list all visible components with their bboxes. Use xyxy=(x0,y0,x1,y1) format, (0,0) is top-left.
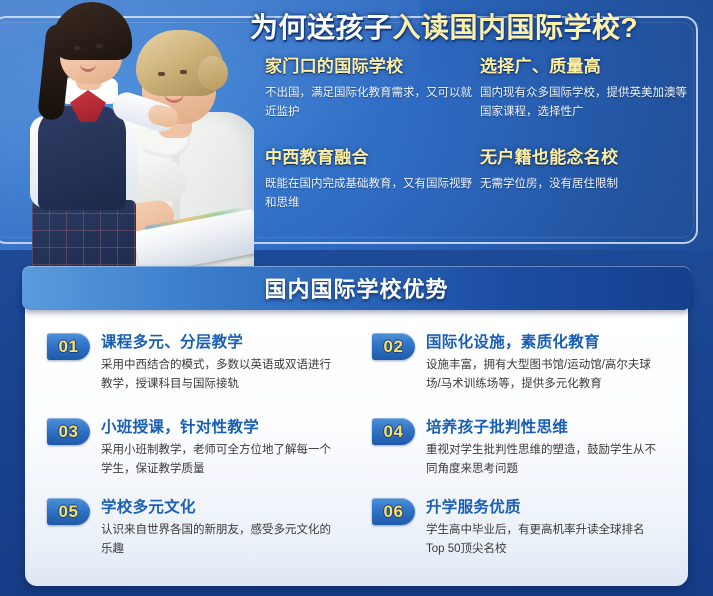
hero-block-1-heading: 家门口的国际学校 xyxy=(265,52,475,77)
advantage-body-05: 认识来自世界各国的新朋友，感受多元文化的乐趣 xyxy=(101,521,333,558)
advantage-text-06: 升学服务优质 学生高中毕业后，有更高机率升读全球排名Top 50顶尖名校 xyxy=(426,495,658,585)
student-skirt xyxy=(32,200,136,272)
advantage-heading-01: 课程多元、分层教学 xyxy=(101,330,333,352)
advantage-text-01: 课程多元、分层教学 采用中西结合的模式，多数以英语或双语进行教学，授课科目与国际… xyxy=(101,330,333,415)
advantage-badge-05: 05 xyxy=(47,498,90,525)
advantage-heading-05: 学校多元文化 xyxy=(101,495,333,517)
advantage-badge-04: 04 xyxy=(372,418,415,445)
student-eye-left xyxy=(74,46,81,50)
page-title-yellow: 入读国内国际学校? xyxy=(393,12,639,43)
hero-block-3-body: 既能在国内完成基础教育，又有国际视野和思维 xyxy=(265,175,475,212)
advantages-grid: 01 课程多元、分层教学 采用中西结合的模式，多数以英语或双语进行教学，授课科目… xyxy=(25,330,688,586)
teacher-eye-left xyxy=(158,72,165,76)
advantage-heading-03: 小班授课，针对性教学 xyxy=(101,415,333,437)
page-title-white: 为何送孩子 xyxy=(250,12,393,43)
advantage-body-04: 重视对学生批判性思维的塑造，鼓励学生从不同角度来思考问题 xyxy=(426,441,658,478)
advantage-body-01: 采用中西结合的模式，多数以英语或双语进行教学，授课科目与国际接轨 xyxy=(101,356,333,393)
advantage-item-03[interactable]: 03 小班授课，针对性教学 采用小班制教学，老师可全方位地了解每一个学生，保证教… xyxy=(25,415,350,495)
advantage-badge-06: 06 xyxy=(372,498,415,525)
advantage-badge-01: 01 xyxy=(47,333,90,360)
advantage-body-03: 采用小班制教学，老师可全方位地了解每一个学生，保证教学质量 xyxy=(101,441,333,478)
hero-block-3: 中西教育融合 既能在国内完成基础教育，又有国际视野和思维 xyxy=(265,143,475,212)
student-hair xyxy=(52,2,132,60)
page-title: 为何送孩子入读国内国际学校? xyxy=(250,6,710,46)
hero-block-4-heading: 无户籍也能念名校 xyxy=(480,143,690,168)
advantage-item-02[interactable]: 02 国际化设施，素质化教育 设施丰富，拥有大型图书馆/运动馆/高尔夫球场/马术… xyxy=(350,330,688,415)
hero-block-4-body: 无需学位房，没有居住限制 xyxy=(480,175,690,194)
advantage-item-04[interactable]: 04 培养孩子批判性思维 重视对学生批判性思维的塑造，鼓励学生从不同角度来思考问… xyxy=(350,415,688,495)
advantage-item-01[interactable]: 01 课程多元、分层教学 采用中西结合的模式，多数以英语或双语进行教学，授课科目… xyxy=(25,330,350,415)
hero-block-3-heading: 中西教育融合 xyxy=(265,143,475,168)
advantage-body-06: 学生高中毕业后，有更高机率升读全球排名Top 50顶尖名校 xyxy=(426,521,658,558)
teacher-eye-right xyxy=(180,70,187,74)
advantage-text-05: 学校多元文化 认识来自世界各国的新朋友，感受多元文化的乐趣 xyxy=(101,495,333,585)
advantage-text-02: 国际化设施，素质化教育 设施丰富，拥有大型图书馆/运动馆/高尔夫球场/马术训练场… xyxy=(426,330,658,415)
hero-block-2-heading: 选择广、质量高 xyxy=(480,52,690,77)
advantage-badge-02: 02 xyxy=(372,333,415,360)
hero-block-row-2: 中西教育融合 既能在国内完成基础教育，又有国际视野和思维 无户籍也能念名校 无需… xyxy=(265,143,705,212)
hero-blocks: 家门口的国际学校 不出国，满足国际化教育需求，又可以就近监护 选择广、质量高 国… xyxy=(265,52,705,213)
hero-block-4: 无户籍也能念名校 无需学位房，没有居住限制 xyxy=(480,143,690,212)
advantage-heading-04: 培养孩子批判性思维 xyxy=(426,415,658,437)
hero-block-1: 家门口的国际学校 不出国，满足国际化教育需求，又可以就近监护 xyxy=(265,52,475,121)
teacher-and-student-photo xyxy=(8,0,254,272)
advantage-badge-03: 03 xyxy=(47,418,90,445)
advantage-text-03: 小班授课，针对性教学 采用小班制教学，老师可全方位地了解每一个学生，保证教学质量 xyxy=(101,415,333,495)
advantage-heading-02: 国际化设施，素质化教育 xyxy=(426,330,658,352)
advantages-banner: 国内国际学校优势 xyxy=(22,266,691,310)
advantage-item-05[interactable]: 05 学校多元文化 认识来自世界各国的新朋友，感受多元文化的乐趣 xyxy=(25,495,350,585)
advantage-item-06[interactable]: 06 升学服务优质 学生高中毕业后，有更高机率升读全球排名Top 50顶尖名校 xyxy=(350,495,688,585)
advantage-body-02: 设施丰富，拥有大型图书馆/运动馆/高尔夫球场/马术训练场等，提供多元化教育 xyxy=(426,356,658,393)
hero-block-2: 选择广、质量高 国内现有众多国际学校，提供英美加澳等国家课程，选择性广 xyxy=(480,52,690,121)
hero-block-row-1: 家门口的国际学校 不出国，满足国际化教育需求，又可以就近监护 选择广、质量高 国… xyxy=(265,52,705,121)
poster-root: 为何送孩子入读国内国际学校? 家门口的国际学校 不出国，满足国际化教育需求，又可… xyxy=(0,0,713,596)
advantage-text-04: 培养孩子批判性思维 重视对学生批判性思维的塑造，鼓励学生从不同角度来思考问题 xyxy=(426,415,658,495)
teacher-hair-bun xyxy=(198,56,228,90)
advantage-heading-06: 升学服务优质 xyxy=(426,495,658,517)
hero-block-1-body: 不出国，满足国际化教育需求，又可以就近监护 xyxy=(265,84,475,121)
hero-block-2-body: 国内现有众多国际学校，提供英美加澳等国家课程，选择性广 xyxy=(480,84,690,121)
advantages-banner-title: 国内国际学校优势 xyxy=(264,272,448,304)
student-eye-right xyxy=(96,44,103,48)
